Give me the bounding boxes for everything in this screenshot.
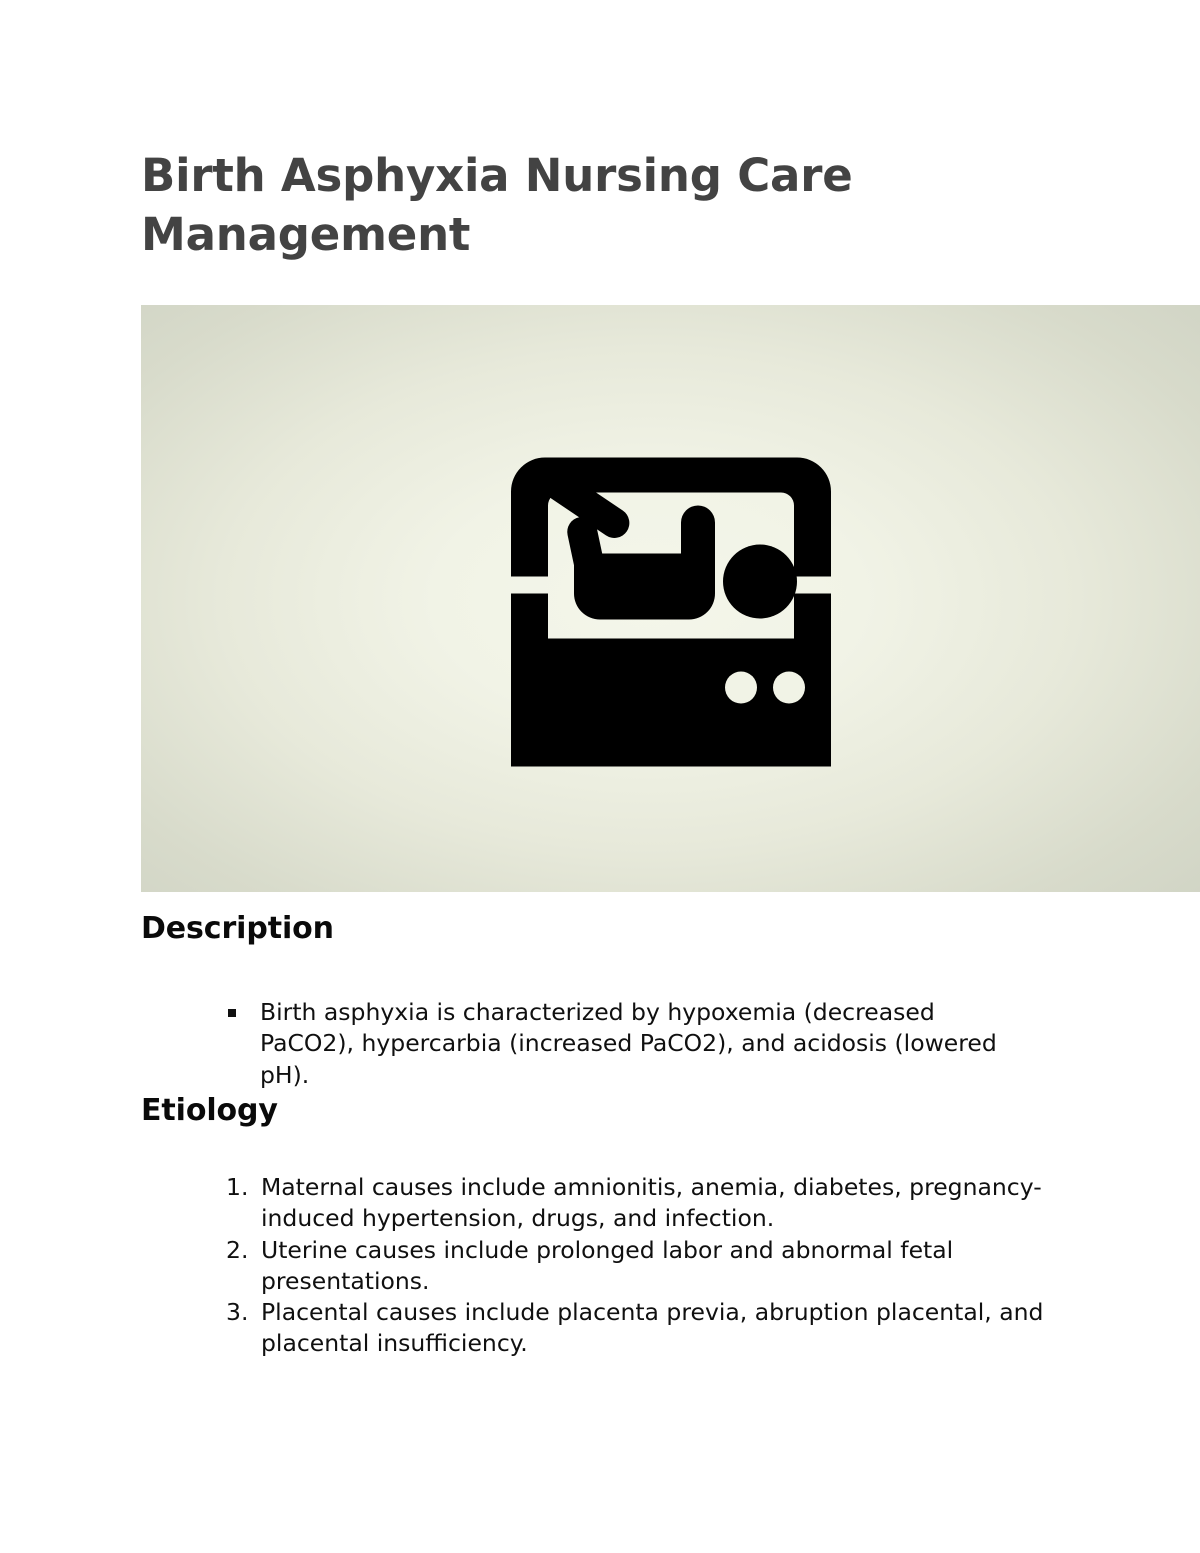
- list-item: 2. Uterine causes include prolonged labo…: [226, 1235, 1056, 1298]
- list-item-number: 2.: [226, 1235, 254, 1266]
- document-page: Birth Asphyxia Nursing Care Management: [0, 0, 1200, 1553]
- list-item: Birth asphyxia is characterized by hypox…: [226, 997, 1036, 1091]
- square-bullet-icon: [228, 1009, 236, 1017]
- list-item-text: Birth asphyxia is characterized by hypox…: [260, 998, 997, 1089]
- section-heading-description: Description: [141, 911, 334, 947]
- description-bullet-list: Birth asphyxia is characterized by hypox…: [226, 997, 1036, 1091]
- page-title: Birth Asphyxia Nursing Care Management: [141, 146, 1061, 265]
- list-item-number: 1.: [226, 1172, 254, 1203]
- list-item-text: Maternal causes include amnionitis, anem…: [261, 1173, 1042, 1232]
- list-item-text: Placental causes include placenta previa…: [261, 1298, 1043, 1357]
- list-item: 1. Maternal causes include amnionitis, a…: [226, 1172, 1056, 1235]
- list-item-text: Uterine causes include prolonged labor a…: [261, 1236, 953, 1295]
- section-heading-etiology: Etiology: [141, 1093, 278, 1129]
- infant-incubator-icon: [511, 431, 831, 766]
- etiology-numbered-list: 1. Maternal causes include amnionitis, a…: [226, 1172, 1056, 1360]
- hero-image-banner: [141, 305, 1200, 892]
- list-item-number: 3.: [226, 1297, 254, 1328]
- list-item: 3. Placental causes include placenta pre…: [226, 1297, 1056, 1360]
